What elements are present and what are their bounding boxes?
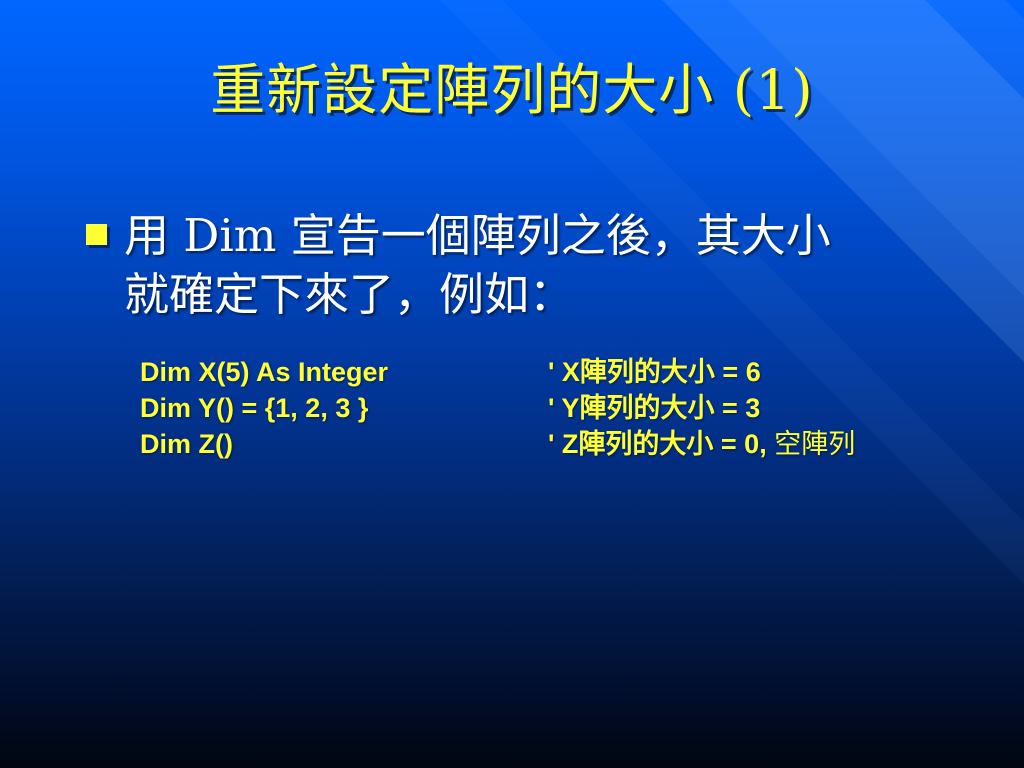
code-comment-head: ' Z陣列的大小 = 0, bbox=[548, 429, 767, 459]
code-statement: Dim X(5) As Integer bbox=[140, 354, 388, 390]
bullet-item: 用 Dim 宣告一個陣列之後，其大小 就確定下來了，例如： bbox=[86, 206, 986, 324]
code-line: Dim X(5) As Integer ' X陣列的大小 = 6 bbox=[140, 354, 1020, 390]
bullet-line-1: 用 Dim 宣告一個陣列之後，其大小 bbox=[124, 206, 924, 265]
code-statement: Dim Y() = {1, 2, 3 } bbox=[140, 390, 368, 426]
code-line: Dim Y() = {1, 2, 3 } ' Y陣列的大小 = 3 bbox=[140, 390, 1020, 426]
code-comment-head: ' X陣列的大小 = 6 bbox=[548, 357, 761, 387]
code-comment: ' X陣列的大小 = 6 bbox=[548, 354, 761, 390]
code-comment: ' Z陣列的大小 = 0, 空陣列 bbox=[548, 426, 855, 462]
code-statement: Dim Z() bbox=[140, 426, 233, 462]
code-line: Dim Z() ' Z陣列的大小 = 0, 空陣列 bbox=[140, 426, 1020, 462]
code-comment-head: ' Y陣列的大小 = 3 bbox=[548, 393, 760, 423]
code-comment: ' Y陣列的大小 = 3 bbox=[548, 390, 760, 426]
slide-title: 重新設定陣列的大小 (1) bbox=[0, 58, 1024, 122]
bullet-line-2: 就確定下來了，例如： bbox=[124, 265, 924, 324]
code-comment-tail: 空陣列 bbox=[767, 429, 856, 459]
code-block: Dim X(5) As Integer ' X陣列的大小 = 6 Dim Y()… bbox=[140, 354, 1020, 462]
bullet-paragraph: 用 Dim 宣告一個陣列之後，其大小 就確定下來了，例如： bbox=[124, 206, 924, 324]
square-bullet-icon bbox=[86, 224, 107, 245]
presentation-slide: 重新設定陣列的大小 (1) 用 Dim 宣告一個陣列之後，其大小 就確定下來了，… bbox=[0, 0, 1024, 768]
